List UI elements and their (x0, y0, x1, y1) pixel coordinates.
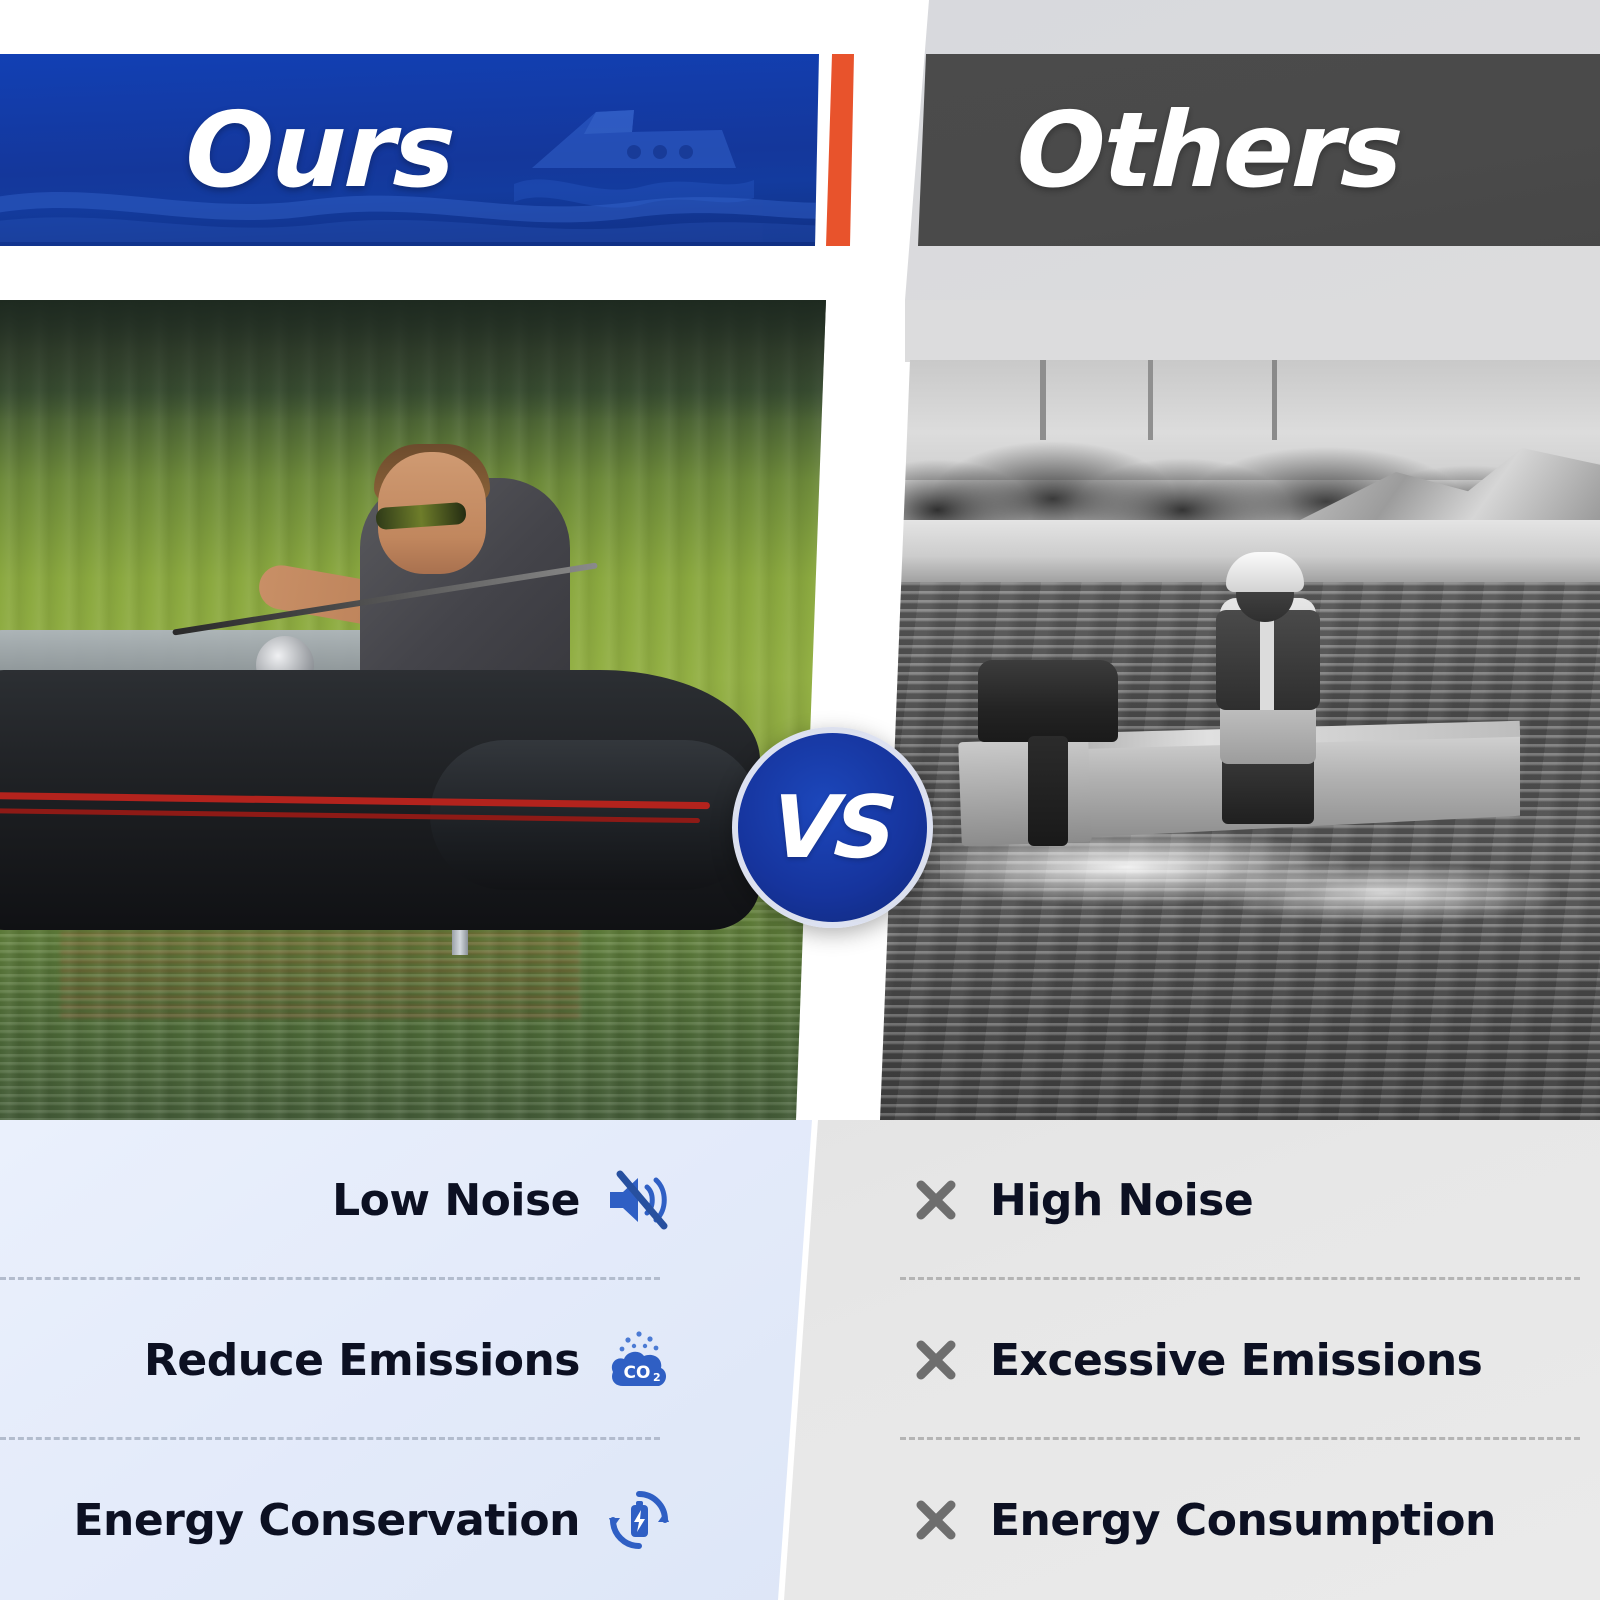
co2-cloud-icon: CO 2 (606, 1328, 672, 1392)
list-item: High Noise (880, 1120, 1600, 1280)
feature-label-reduce-emissions: Reduce Emissions (144, 1335, 580, 1386)
photo-others (880, 360, 1600, 1120)
photo-ours (0, 300, 830, 1120)
others-feature-list: High Noise Excessive Emissions Energy Co… (880, 1120, 1600, 1600)
x-mark-icon (912, 1496, 960, 1544)
others-title: Others (918, 54, 1503, 246)
list-item: Low Noise (0, 1120, 800, 1280)
feature-label-energy-consumption: Energy Consumption (990, 1495, 1496, 1546)
comparison-infographic: Ours Others (0, 0, 1600, 1600)
list-item: Reduce Emissions CO 2 (0, 1280, 800, 1440)
photo-band (0, 300, 1600, 1120)
feature-label-excessive-emissions: Excessive Emissions (990, 1335, 1482, 1386)
speaker-muted-icon (606, 1170, 672, 1230)
feature-label-high-noise: High Noise (990, 1175, 1253, 1226)
ours-scene (0, 300, 830, 1120)
others-banner: Others (918, 54, 1600, 246)
photo-right-gap-fill (905, 300, 1600, 362)
ours-banner: Ours (0, 54, 822, 246)
list-item: Energy Conservation (0, 1440, 800, 1600)
co2-text: CO (624, 1363, 651, 1383)
others-scene (880, 360, 1600, 1120)
list-item: Excessive Emissions (880, 1280, 1600, 1440)
co2-subscript: 2 (653, 1371, 661, 1384)
x-mark-icon (912, 1336, 960, 1384)
feature-label-low-noise: Low Noise (332, 1175, 580, 1226)
vs-badge: VS (732, 727, 933, 928)
ours-title: Ours (0, 54, 822, 246)
x-mark-icon (912, 1176, 960, 1224)
list-item: Energy Consumption (880, 1440, 1600, 1600)
ours-feature-list: Low Noise Reduce Emissions CO 2 (0, 1120, 800, 1600)
feature-label-energy-conservation: Energy Conservation (73, 1495, 580, 1546)
vs-label: VS (769, 778, 896, 878)
battery-recycle-icon (606, 1488, 672, 1552)
